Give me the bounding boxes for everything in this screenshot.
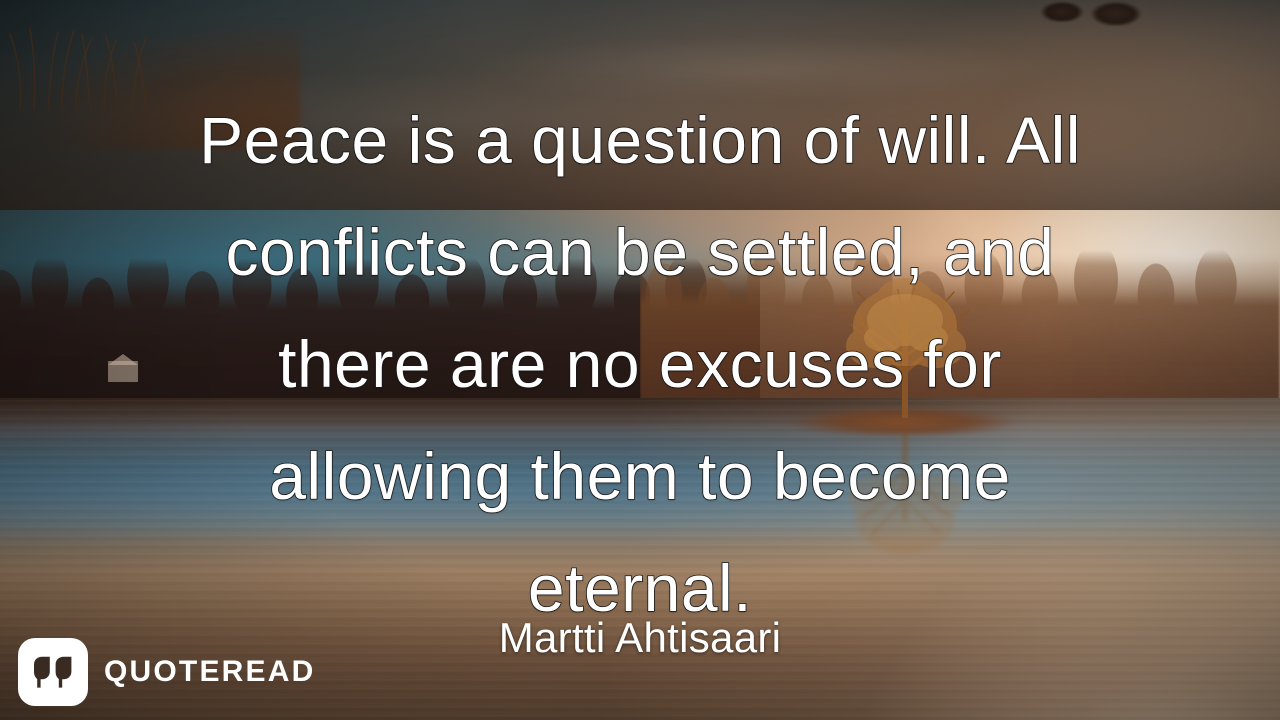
quote-line-4: allowing them to become bbox=[46, 420, 1234, 532]
double-quote-icon bbox=[18, 638, 88, 706]
brand-watermark[interactable]: QUOTEREAD bbox=[18, 638, 315, 706]
quote-line-1: Peace is a question of will. All bbox=[46, 84, 1234, 196]
brand-name: QUOTEREAD bbox=[104, 655, 315, 689]
quote-image-canvas: Peace is a question of will. All conflic… bbox=[0, 0, 1280, 720]
quote-text-block: Peace is a question of will. All conflic… bbox=[0, 84, 1280, 644]
quote-line-3: there are no excuses for bbox=[46, 308, 1234, 420]
quote-line-2: conflicts can be settled, and bbox=[46, 196, 1234, 308]
